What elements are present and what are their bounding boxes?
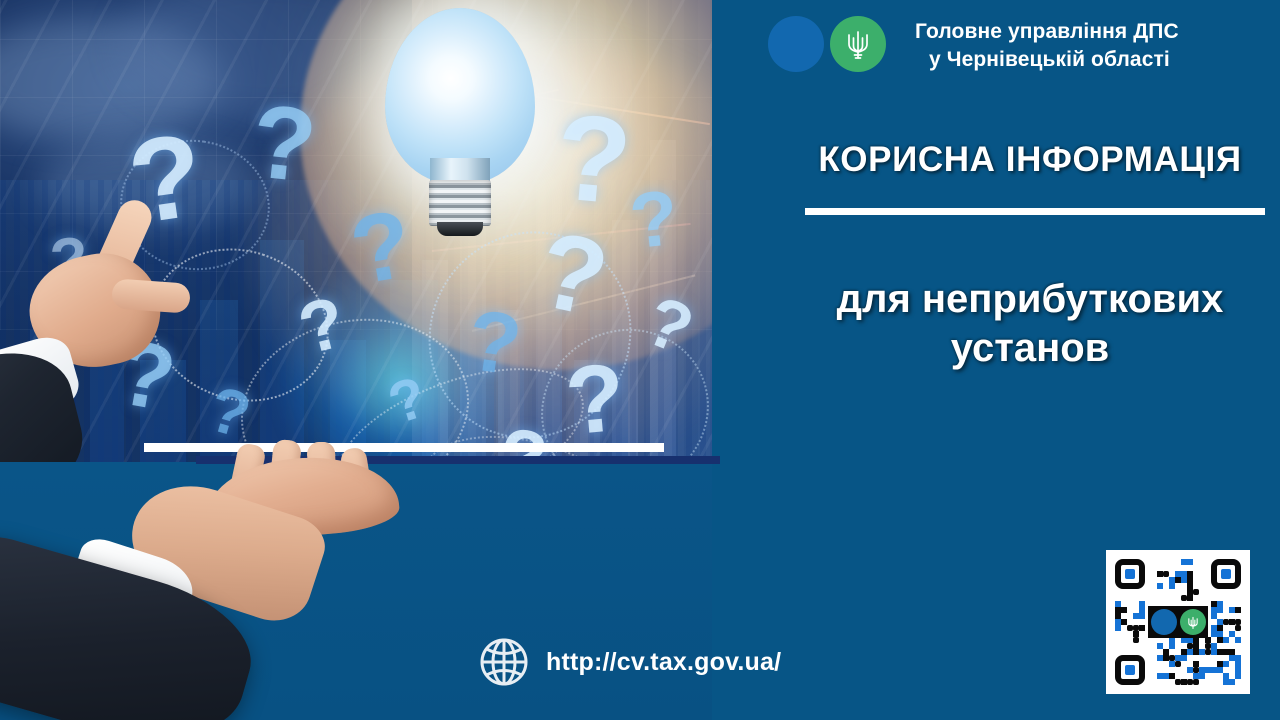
page-subtitle: для неприбуткових установ	[790, 275, 1270, 373]
organization-name: Головне управління ДПС у Чернівецькій об…	[915, 18, 1255, 73]
qr-code[interactable]	[1106, 550, 1250, 694]
website-link[interactable]: http://cv.tax.gov.ua/	[478, 636, 781, 688]
pointing-hand	[0, 195, 240, 425]
logo-blue-circle	[768, 16, 824, 72]
qr-finder-bottom-left	[1115, 655, 1145, 685]
qr-finder-top-right	[1211, 559, 1241, 589]
subtitle-line-2: установ	[790, 324, 1270, 373]
title-divider	[805, 208, 1265, 215]
ukrainian-trident-icon	[845, 28, 871, 60]
question-mark-glyph: ?	[462, 297, 526, 389]
qr-finder-top-left	[1115, 559, 1145, 589]
org-line-2: у Чернівецькій області	[915, 46, 1255, 74]
lightbulb-illustration	[385, 8, 535, 238]
qr-canvas	[1115, 559, 1241, 685]
question-mark-glyph: ?	[247, 89, 321, 199]
poster-root: ? ? ? ? ? ? ? ? ? ? ? ? ? ? ?	[0, 0, 1280, 720]
hand-foreground	[0, 420, 420, 720]
page-title: КОРИСНА ІНФОРМАЦІЯ	[790, 140, 1270, 180]
question-mark-glyph: ?	[626, 178, 682, 261]
website-url-text[interactable]: http://cv.tax.gov.ua/	[546, 648, 781, 677]
org-line-1: Головне управління ДПС	[915, 18, 1255, 46]
question-mark-glyph: ?	[551, 95, 636, 223]
question-mark-glyph: ?	[562, 350, 629, 451]
subtitle-line-1: для неприбуткових	[790, 275, 1270, 324]
organization-logo	[768, 16, 888, 72]
qr-center-logo	[1148, 606, 1208, 638]
globe-icon	[478, 636, 530, 688]
logo-green-circle	[830, 16, 886, 72]
qr-trident-icon	[1187, 615, 1199, 630]
